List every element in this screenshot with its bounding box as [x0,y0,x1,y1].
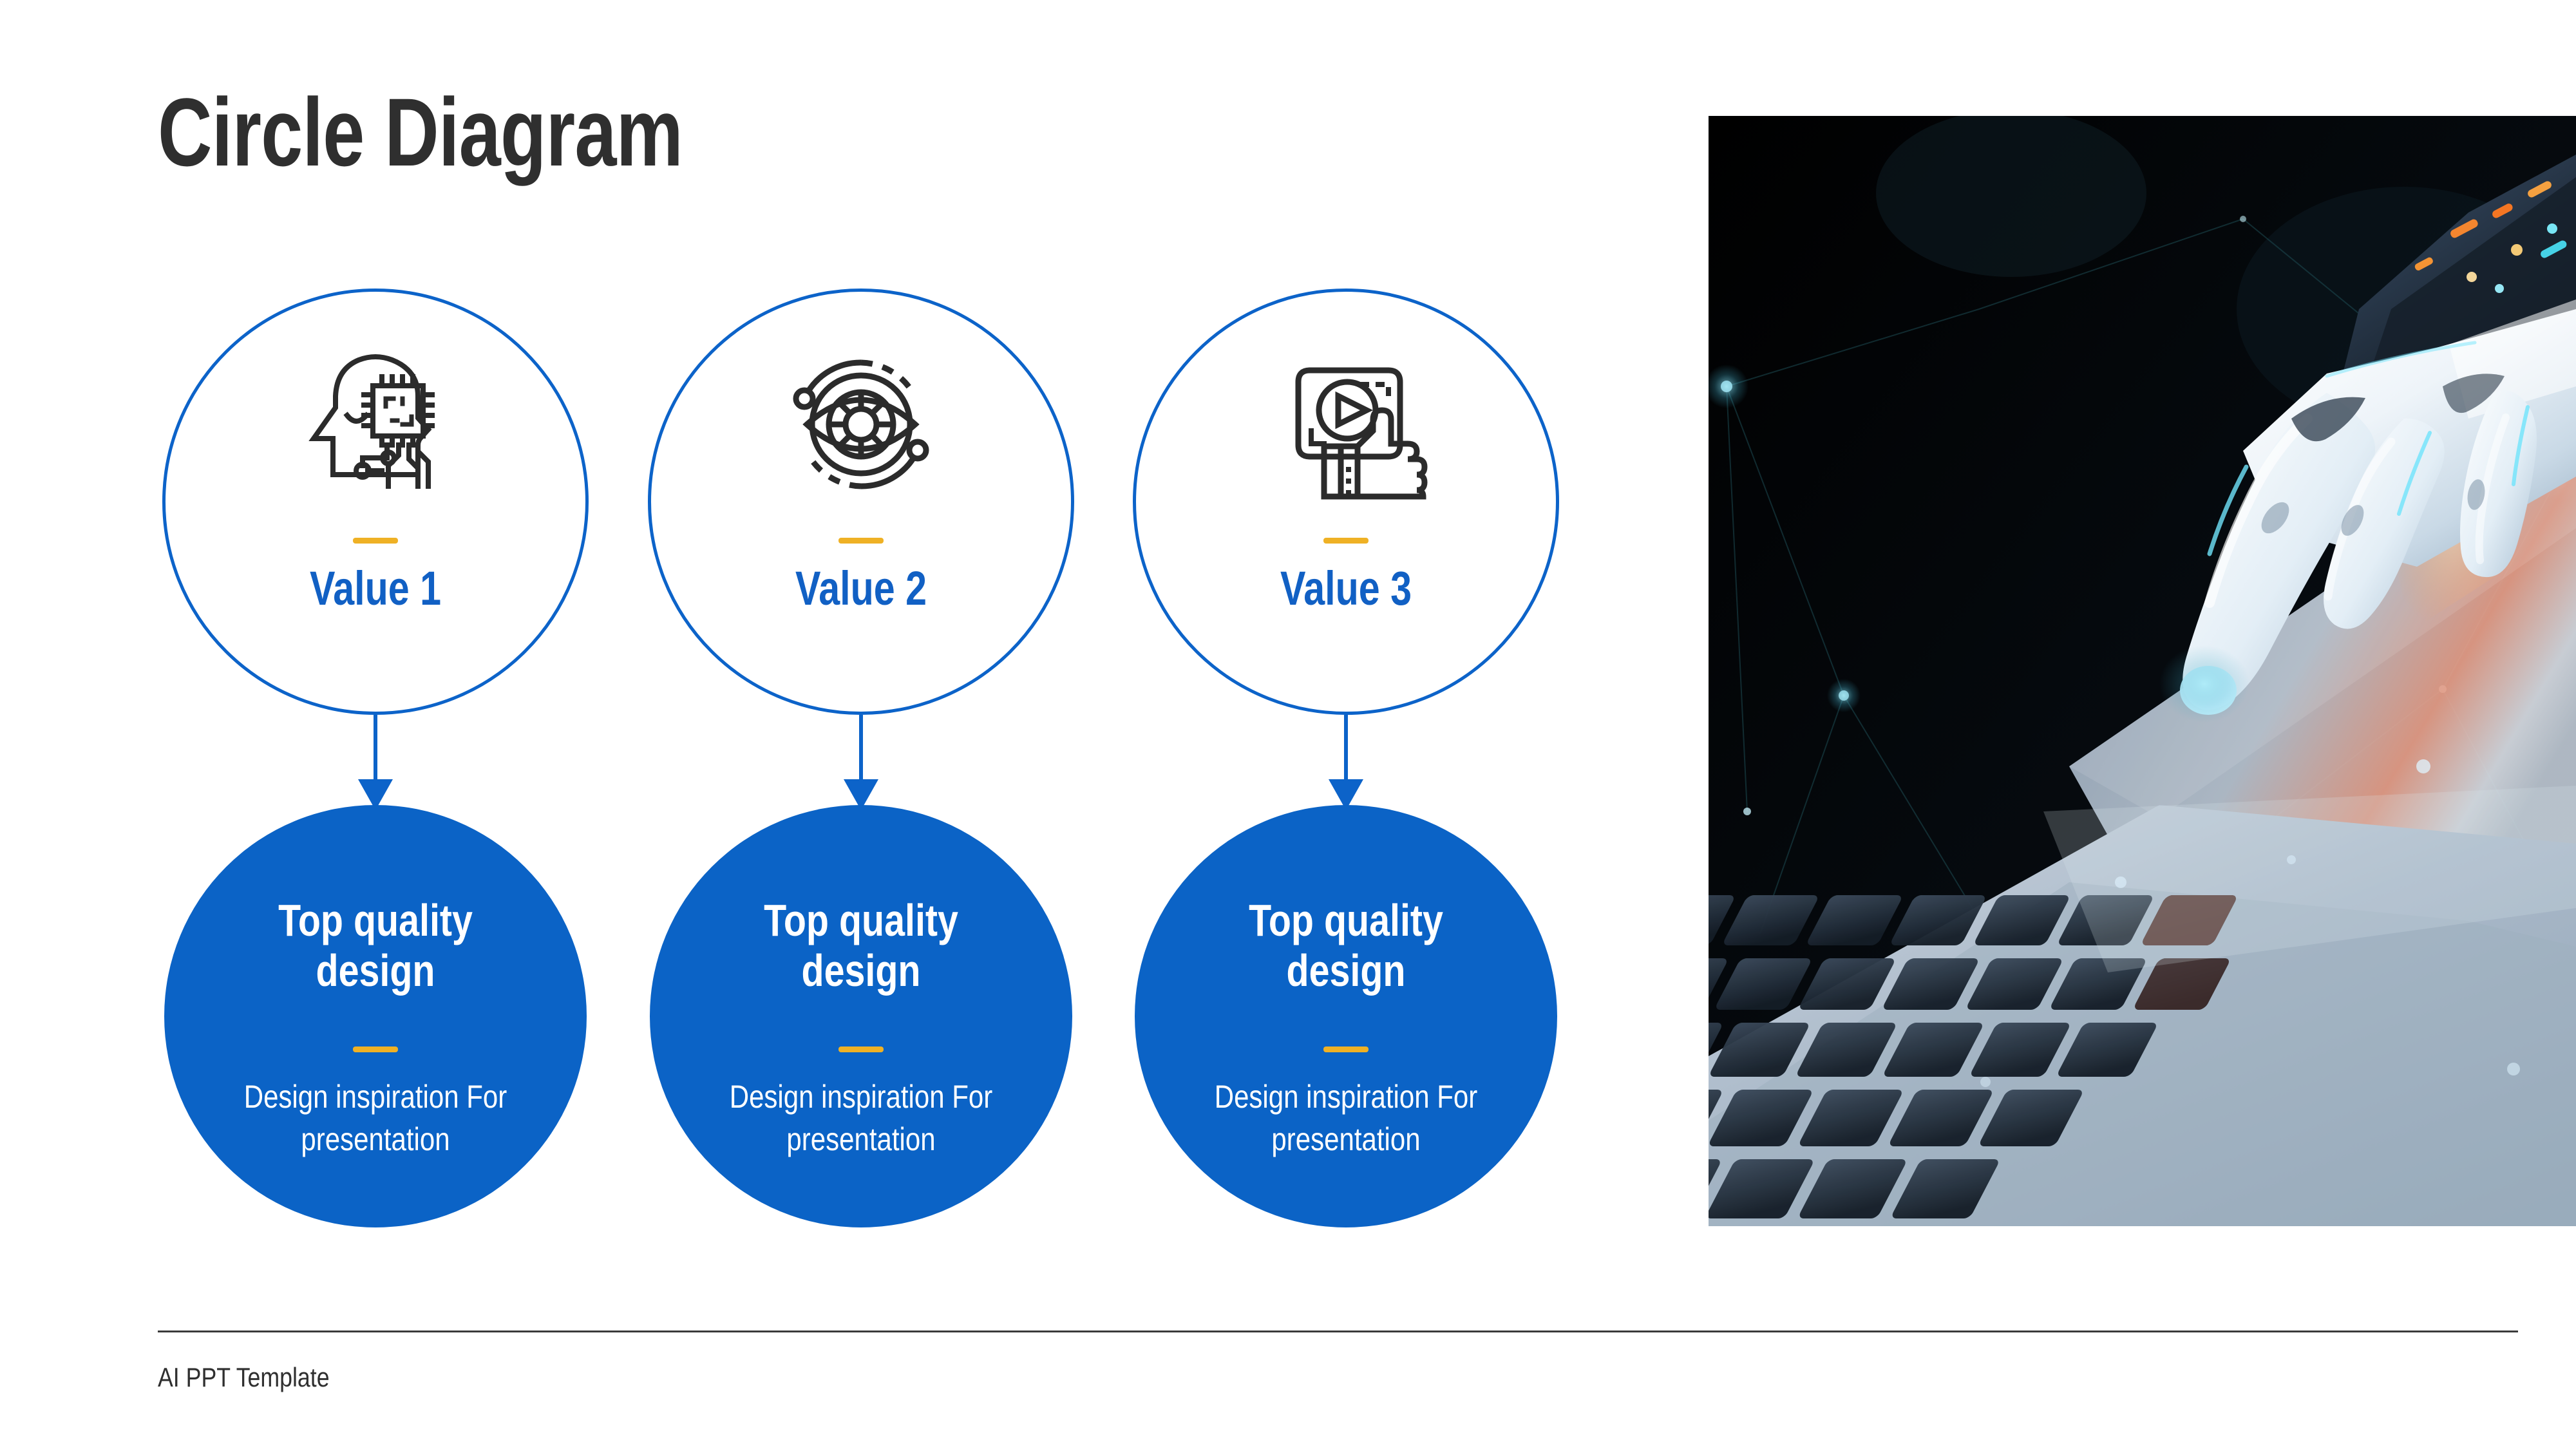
value-label-2: Value 2 [693,562,1029,614]
circle-diagram: Value 1 Top quality design Design inspir… [0,0,1674,1288]
card-accent-divider [838,1046,884,1052]
connector-stem [1344,715,1348,782]
connector-arrow-2 [842,715,880,808]
connector-arrow-3 [1327,715,1365,808]
diagram-column-3: Value 3 Top quality design Design inspir… [1127,0,1565,1288]
ai-head-chip-icon [292,348,459,500]
eye-scan-orbit-icon [777,348,945,500]
diagram-column-2: Value 2 Top quality design Design inspir… [642,0,1080,1288]
card-body-3: Design inspiration For presentation [1206,1075,1485,1160]
diagram-column-1: Value 1 Top quality design Design inspir… [156,0,594,1288]
value-circle-2[interactable]: Value 2 [648,289,1074,715]
circle-accent-divider [1323,538,1368,544]
circle-accent-divider [353,538,398,544]
value-circle-3[interactable]: Value 3 [1133,289,1559,715]
connector-stem [374,715,377,782]
robot-hand-laptop-photo [1709,116,2576,1226]
footer-label: AI PPT Template [158,1362,330,1393]
card-title-1: Top quality design [234,895,517,996]
card-title-2: Top quality design [719,895,1003,996]
connector-stem [859,715,863,782]
value-circle-1[interactable]: Value 1 [162,289,589,715]
circle-accent-divider [838,538,884,544]
connector-arrow-1 [356,715,395,808]
detail-circle-2[interactable]: Top quality design Design inspiration Fo… [650,805,1072,1227]
card-accent-divider [353,1046,398,1052]
footer-divider [158,1331,2518,1332]
card-title-3: Top quality design [1204,895,1488,996]
detail-circle-1[interactable]: Top quality design Design inspiration Fo… [164,805,587,1227]
card-body-1: Design inspiration For presentation [236,1075,515,1160]
card-accent-divider [1323,1046,1368,1052]
video-thumbs-up-icon [1262,348,1430,500]
value-label-3: Value 3 [1178,562,1514,614]
detail-circle-3[interactable]: Top quality design Design inspiration Fo… [1135,805,1557,1227]
value-label-1: Value 1 [207,562,544,614]
card-body-2: Design inspiration For presentation [721,1075,1000,1160]
